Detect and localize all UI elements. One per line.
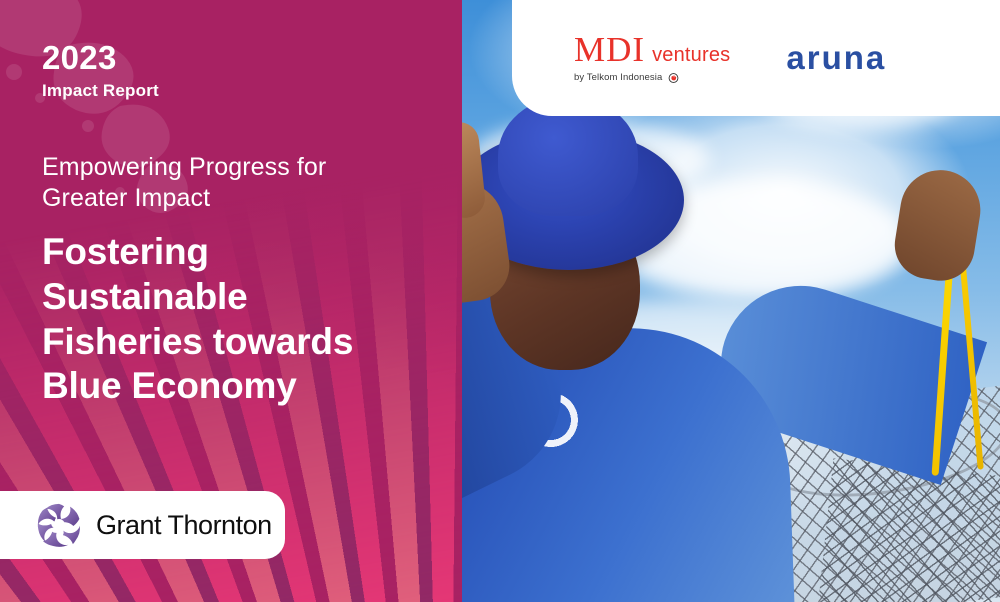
grant-thornton-badge: Grant Thornton: [0, 491, 285, 559]
report-label: Impact Report: [42, 81, 159, 101]
mdi-letters: MDI: [574, 32, 645, 67]
aruna-logo: aruna: [786, 39, 886, 77]
grant-thornton-wordmark: Grant Thornton: [96, 510, 272, 541]
mdi-byline-text: by Telkom Indonesia: [574, 73, 662, 83]
mdi-wordmark: MDI ventures: [574, 32, 730, 67]
fishing-net-lower: [818, 458, 1000, 602]
headline-title-line-1: Fostering: [42, 230, 442, 275]
report-year: 2023: [42, 41, 159, 74]
headline-subtitle: Empowering Progress for Greater Impact: [42, 152, 442, 214]
mdi-byline: by Telkom Indonesia: [574, 71, 730, 84]
headline-subtitle-line-2: Greater Impact: [42, 183, 442, 214]
headline-subtitle-line-1: Empowering Progress for: [42, 152, 442, 183]
cover-headline: Empowering Progress for Greater Impact F…: [42, 152, 442, 409]
cover-eyebrow: 2023 Impact Report: [42, 41, 159, 101]
logo-header-bar: MDI ventures by Telkom Indonesia aruna: [512, 0, 1000, 116]
mdi-ventures-word: ventures: [652, 45, 730, 65]
right-hand: [890, 164, 986, 285]
headline-title-line-2: Sustainable: [42, 275, 442, 320]
telkom-hand-icon: [667, 71, 680, 84]
headline-title-line-3: Fisheries towards: [42, 320, 442, 365]
impact-report-cover: 2023 Impact Report Empowering Progress f…: [0, 0, 1000, 602]
headline-title-line-4: Blue Economy: [42, 364, 442, 409]
headline-title: Fostering Sustainable Fisheries towards …: [42, 230, 442, 409]
mdi-ventures-logo: MDI ventures by Telkom Indonesia: [574, 32, 730, 84]
grant-thornton-swirl-icon: [36, 502, 82, 548]
